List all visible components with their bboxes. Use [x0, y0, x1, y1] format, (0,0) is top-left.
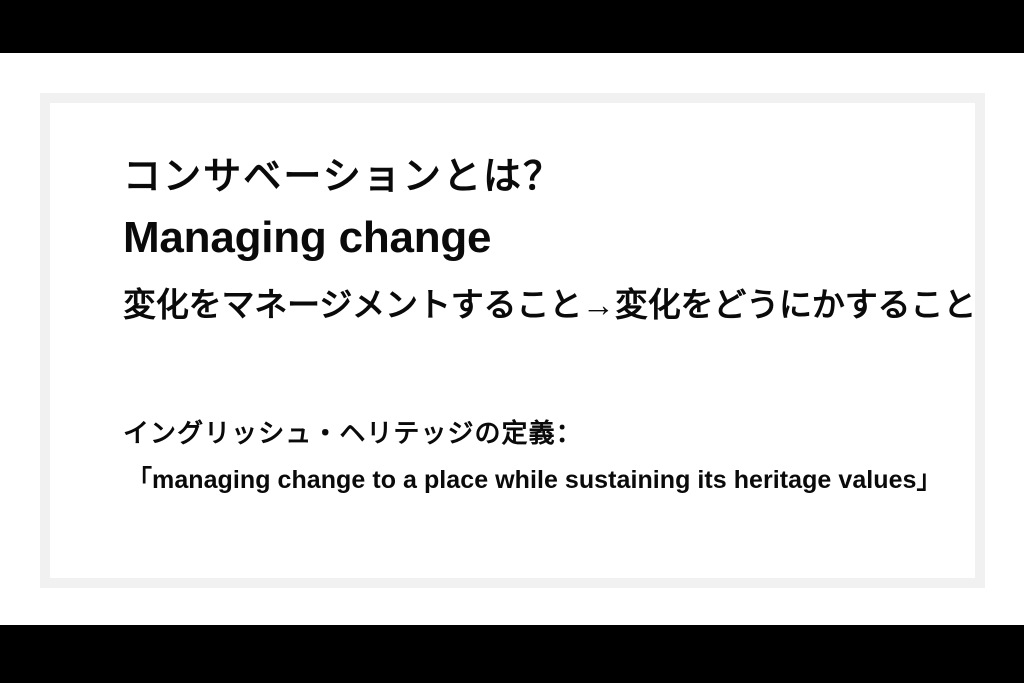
slide-heading-english: Managing change: [123, 216, 983, 288]
letterbox-bar-top: [0, 0, 1024, 53]
slide-canvas: コンサベーションとは？ Managing change 変化をマネージメントする…: [0, 53, 1024, 625]
letterbox-bar-bottom: [0, 625, 1024, 683]
slide-content: コンサベーションとは？ Managing change 変化をマネージメントする…: [123, 158, 983, 493]
slide-heading-japanese: コンサベーションとは？: [123, 158, 983, 216]
content-spacer: [123, 328, 983, 420]
slide-subtitle-japanese: 変化をマネージメントすること→変化をどうにかすること: [123, 288, 983, 328]
definition-quote-text: 「managing change to a place while sustai…: [123, 468, 983, 493]
slide-root: コンサベーションとは？ Managing change 変化をマネージメントする…: [0, 0, 1024, 683]
slide-frame-border: コンサベーションとは？ Managing change 変化をマネージメントする…: [40, 93, 985, 588]
definition-source-label: イングリッシュ・ヘリテッジの定義：: [123, 420, 983, 468]
